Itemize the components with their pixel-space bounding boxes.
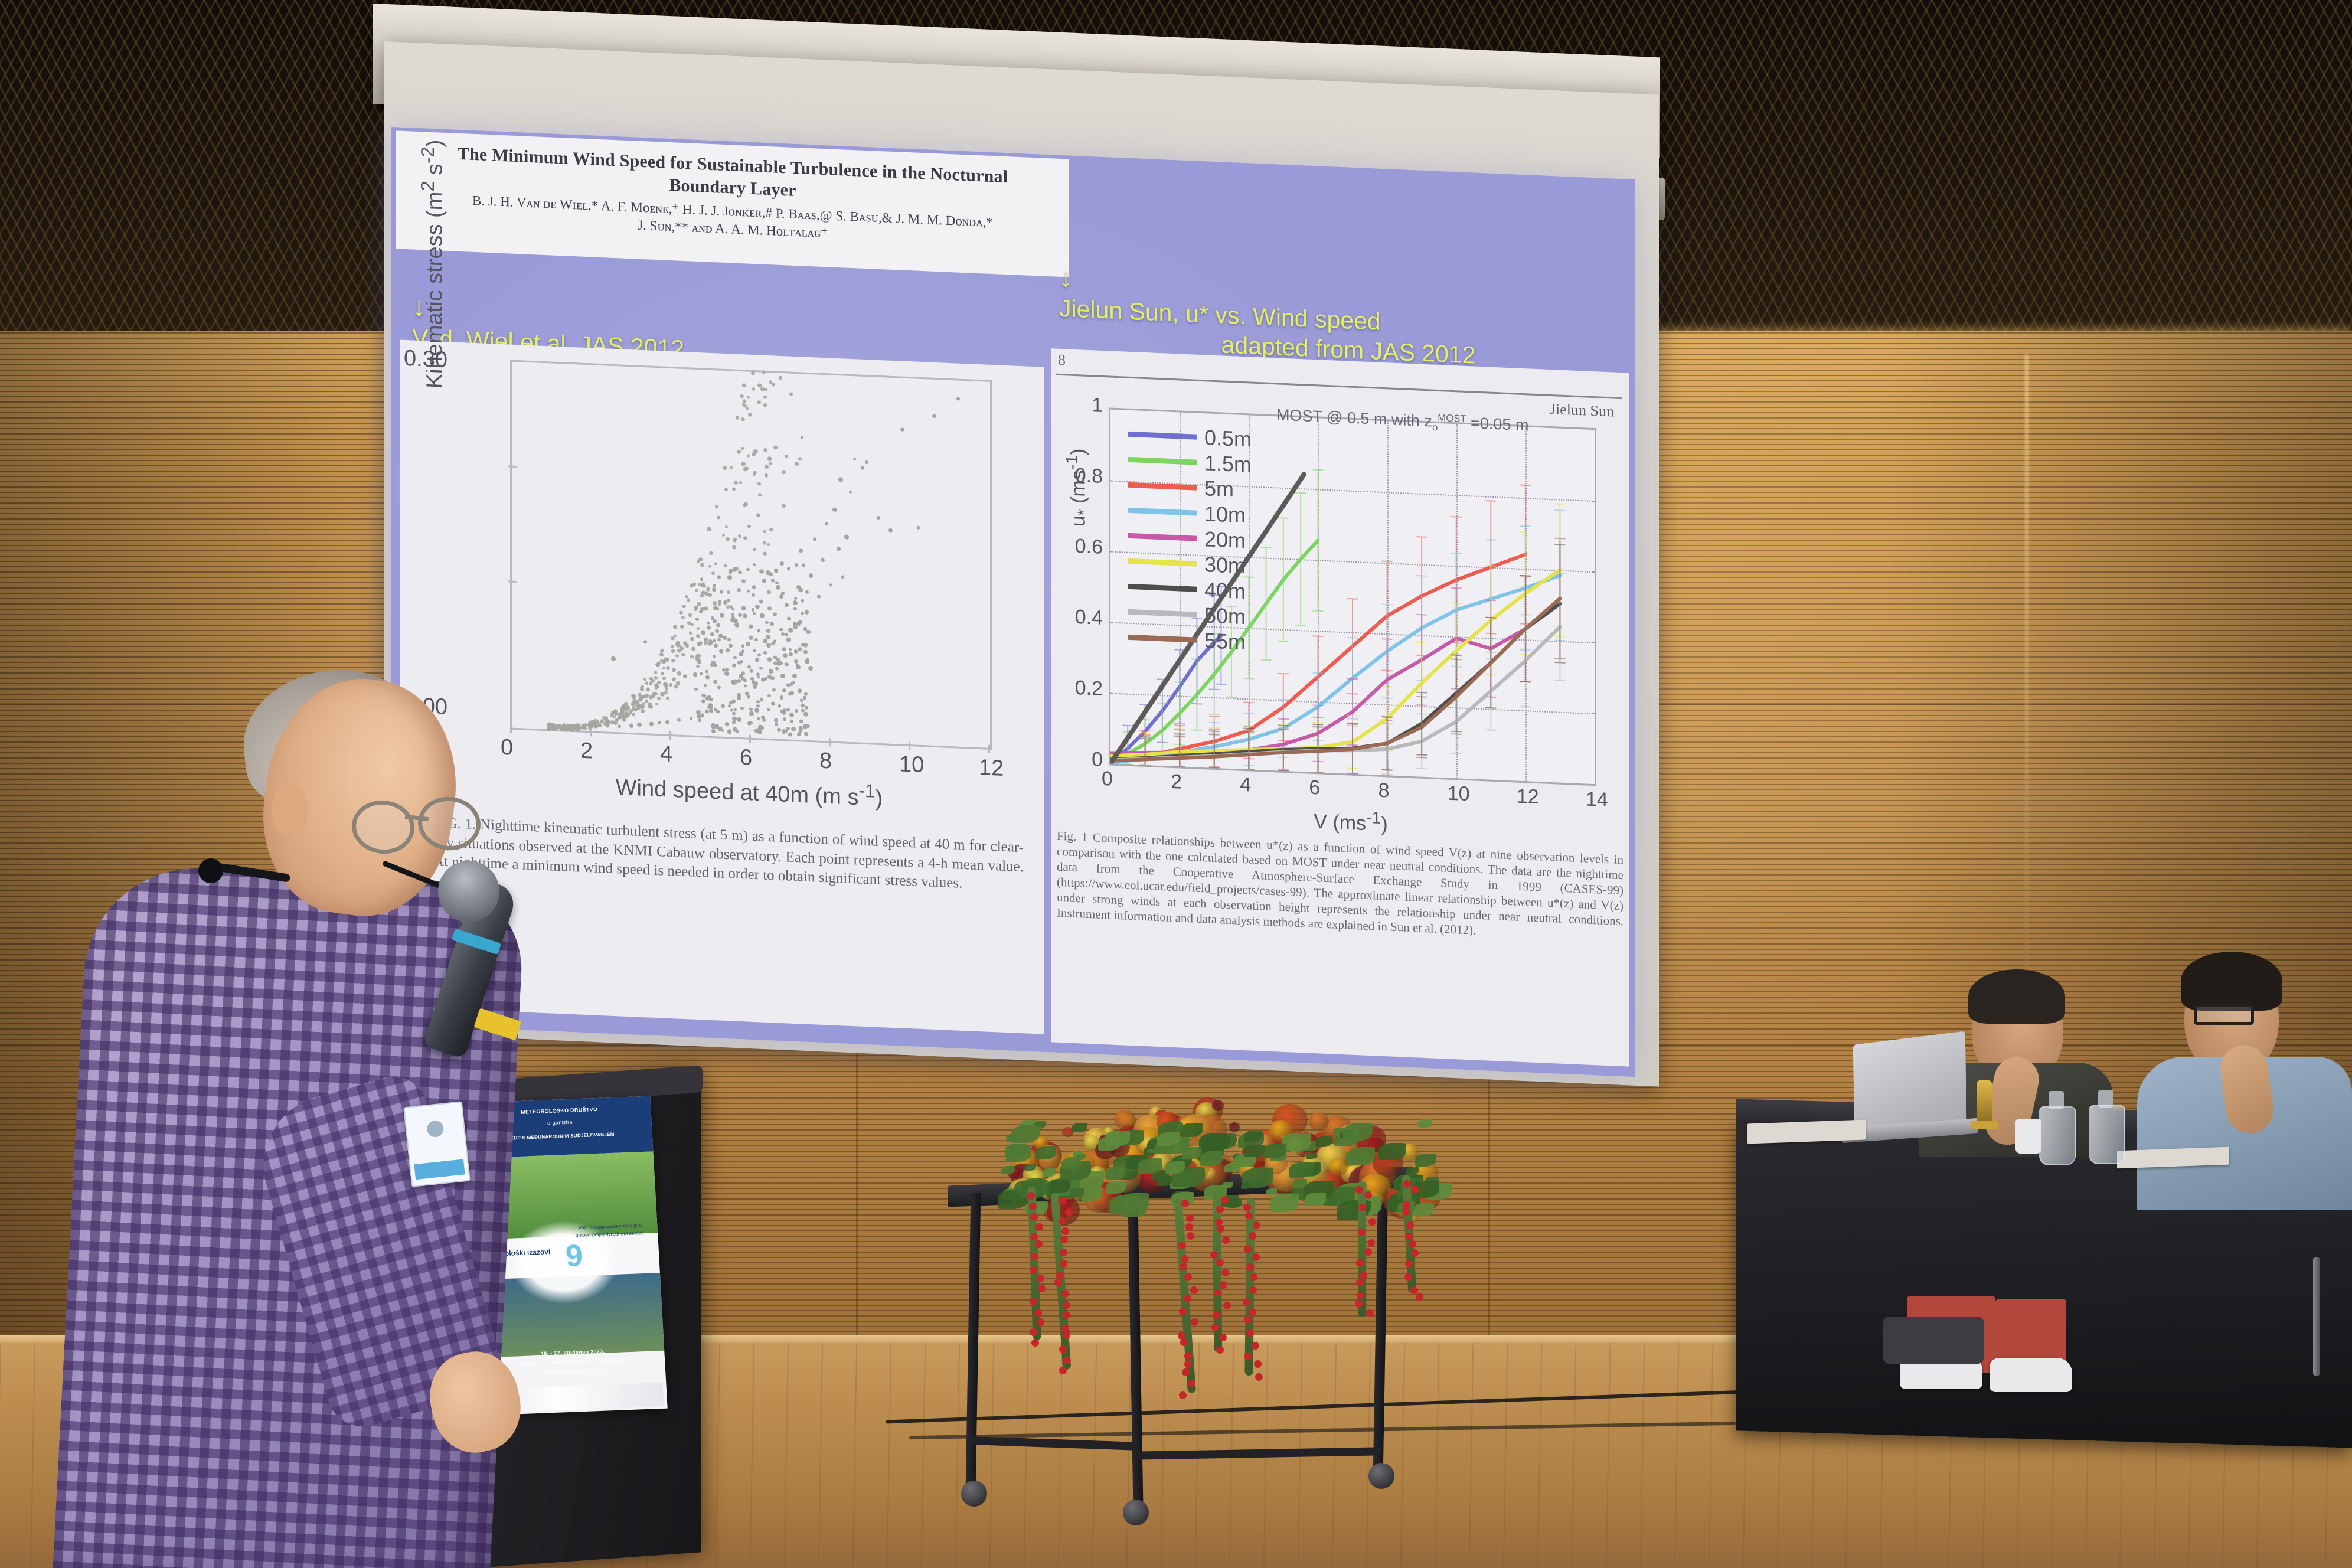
x-tick	[590, 728, 592, 736]
scatter-point	[780, 695, 784, 700]
foliage	[1005, 1144, 1026, 1157]
scatter-point	[759, 569, 763, 574]
scatter-point	[756, 700, 760, 704]
scatter-point	[697, 642, 701, 646]
scatter-point	[747, 454, 750, 458]
scatter-point	[752, 608, 754, 611]
foliage	[1061, 1157, 1080, 1169]
scatter-point	[645, 699, 649, 703]
scatter-point	[763, 403, 767, 407]
scatter-point	[801, 708, 805, 712]
scatter-point	[801, 599, 804, 603]
laptop-screen[interactable]	[1853, 1031, 1967, 1133]
scatter-point	[727, 575, 731, 580]
scatter-point	[700, 672, 703, 675]
scatter-point	[793, 625, 798, 629]
berry	[1059, 1217, 1066, 1225]
scatter-point	[649, 682, 652, 685]
scatter-point	[723, 636, 727, 640]
scatter-point	[724, 487, 728, 491]
scatter-point	[759, 600, 763, 604]
scatter-point	[682, 605, 686, 609]
foliage	[1244, 1145, 1264, 1157]
scatter-point	[802, 564, 805, 567]
scatter-point	[740, 394, 744, 398]
scatter-point	[798, 648, 802, 652]
scatter-point	[746, 407, 749, 410]
scatter-point	[780, 674, 785, 678]
scatter-point	[690, 655, 694, 658]
scatter-point	[746, 642, 750, 646]
scatter-point	[674, 634, 677, 637]
scatter-point	[719, 649, 723, 654]
foliage	[1006, 1134, 1019, 1142]
scatter-point	[844, 535, 849, 540]
foliage	[1266, 1188, 1277, 1195]
berry	[1216, 1206, 1224, 1213]
scatter-point	[749, 624, 753, 629]
scatter-point	[733, 567, 737, 572]
scatter-point	[801, 612, 804, 615]
legend-swatch	[1128, 432, 1197, 440]
scatter-point	[741, 579, 746, 583]
scatter-point	[832, 507, 837, 512]
berry	[1368, 1218, 1376, 1226]
scatter-point	[753, 548, 756, 551]
scatter-point	[618, 716, 621, 720]
scatter-point	[547, 723, 551, 727]
trophy-base	[1971, 1121, 1998, 1129]
berry	[1250, 1273, 1257, 1281]
scatter-point	[732, 682, 736, 685]
figure-watermark: Jielun Sun	[1550, 400, 1614, 421]
y-tick-label: 0.8	[1061, 463, 1103, 488]
scatter-point	[692, 583, 696, 586]
scatter-point	[805, 659, 809, 664]
scatter-point	[645, 694, 649, 697]
scatter-point	[787, 616, 791, 620]
flower-bloom	[1229, 1122, 1240, 1132]
scatter-point	[705, 697, 709, 701]
legend-swatch	[1128, 508, 1197, 516]
scatter-point	[805, 610, 809, 615]
berry	[1030, 1298, 1037, 1305]
legend-label: 40m	[1204, 577, 1246, 604]
scatter-point	[757, 675, 760, 679]
foliage	[1244, 1131, 1262, 1142]
x-tick	[988, 745, 990, 753]
foliage	[1200, 1151, 1224, 1166]
berry	[1063, 1357, 1071, 1364]
flower-bloom	[1328, 1158, 1348, 1176]
scatter-point	[757, 400, 760, 404]
trophy-statuette	[1977, 1080, 1992, 1124]
mic-capsule-icon	[198, 858, 223, 883]
poster-theme: Važnost agrometeorologije u potpori polj…	[574, 1221, 646, 1239]
scatter-point	[793, 600, 798, 605]
scatter-point	[728, 704, 731, 707]
scatter-point	[771, 579, 775, 583]
scatter-point	[573, 725, 576, 729]
scatter-point	[789, 392, 793, 396]
legend-label: 10m	[1204, 501, 1246, 528]
scatter-point	[805, 706, 808, 710]
scatter-point	[732, 488, 736, 491]
scatter-point	[767, 590, 771, 594]
berry	[1358, 1204, 1366, 1211]
scatter-point	[786, 708, 790, 711]
scatter-point	[798, 587, 803, 592]
scatter-point	[838, 477, 843, 482]
scatter-point	[751, 371, 755, 375]
scatter-point	[793, 607, 797, 611]
scatter-point	[654, 671, 658, 674]
scatter-point	[705, 670, 708, 674]
berry	[1187, 1232, 1194, 1240]
scatter-point	[785, 729, 788, 733]
scatter-point	[618, 724, 621, 728]
scatter-point	[737, 450, 741, 454]
scatter-point	[932, 414, 936, 418]
berry	[1179, 1391, 1187, 1399]
scatter-point	[783, 653, 788, 658]
scatter-point	[657, 697, 661, 700]
scatter-point	[672, 677, 676, 681]
scatter-point	[773, 640, 777, 643]
scatter-point	[773, 612, 776, 616]
berry	[1210, 1251, 1218, 1259]
scatter-point	[733, 539, 736, 543]
scatter-point	[566, 724, 570, 729]
foliage	[1333, 1128, 1344, 1135]
scatter-point	[625, 714, 629, 718]
berry	[1030, 1266, 1037, 1274]
legend-item-55m: 55m	[1128, 625, 1252, 655]
scatter-point	[796, 665, 801, 669]
scatter-point	[654, 676, 658, 680]
foliage	[1182, 1147, 1201, 1159]
scatter-point	[651, 694, 655, 698]
berry	[1179, 1308, 1187, 1315]
x-tick	[909, 741, 910, 750]
berry	[1211, 1324, 1219, 1331]
scatter-point	[747, 396, 750, 398]
scatter-point	[800, 699, 803, 703]
legend-swatch	[1128, 558, 1197, 567]
eyeglasses-icon	[2194, 1004, 2254, 1025]
scatter-point	[801, 436, 804, 439]
scatter-point	[758, 494, 762, 497]
scatter-point	[789, 713, 794, 717]
scatter-point	[750, 721, 753, 724]
x-tick	[749, 735, 751, 743]
foliage	[1199, 1133, 1227, 1150]
foliage	[1241, 1183, 1250, 1189]
x-tick-label: 2	[580, 739, 593, 765]
scatter-point	[690, 717, 692, 720]
scatter-point	[687, 598, 690, 602]
badge-photo	[426, 1120, 445, 1138]
scatter-point	[753, 563, 756, 566]
scatter-point	[789, 652, 793, 656]
scatter-point	[687, 621, 691, 625]
berry	[1054, 1279, 1062, 1286]
scatter-point	[749, 708, 752, 711]
scatter-point	[781, 592, 784, 594]
flower-bloom	[1114, 1110, 1136, 1130]
scatter-point	[780, 561, 783, 566]
scatter-point	[801, 703, 805, 707]
scatter-point	[767, 694, 770, 697]
scatter-point	[714, 643, 718, 648]
scatter-point	[554, 726, 558, 730]
scatter-point	[741, 447, 744, 450]
scatter-point	[725, 525, 728, 528]
scatter-point	[726, 537, 729, 541]
scatter-point	[722, 533, 726, 537]
scatter-point	[717, 575, 721, 579]
scatter-point	[765, 473, 769, 478]
scatter-point	[662, 676, 666, 680]
scatter-point	[683, 674, 687, 678]
scatter-point	[690, 636, 694, 641]
scatter-point	[738, 570, 742, 574]
berry	[1249, 1308, 1256, 1316]
scatter-point	[671, 645, 674, 648]
scatter-point	[829, 583, 832, 586]
y-tick-label: 0.6	[1061, 534, 1103, 559]
left-y-axis-label: Kinematic stress (m2 s-2)	[417, 127, 448, 389]
scatter-point	[821, 558, 825, 563]
shoe	[1990, 1358, 2072, 1392]
legend-label: 50m	[1204, 603, 1246, 629]
scatter-point	[785, 603, 789, 607]
scatter-point	[671, 659, 675, 663]
scatter-point	[747, 665, 751, 669]
scatter-point	[741, 462, 745, 466]
legend-label: 30m	[1204, 552, 1246, 579]
scatter-point	[696, 665, 699, 668]
scatter-point	[763, 396, 767, 399]
badge-color-strip	[414, 1159, 465, 1180]
scatter-point	[696, 634, 700, 639]
berry	[1252, 1253, 1260, 1261]
scatter-point	[783, 717, 786, 721]
scatter-point	[747, 524, 751, 528]
scatter-point	[837, 547, 841, 551]
scatter-point	[789, 648, 792, 651]
scatter-point	[700, 578, 704, 582]
scatter-point	[738, 534, 741, 537]
foliage	[1050, 1180, 1070, 1193]
scatter-point	[763, 541, 766, 545]
scatter-point	[605, 716, 608, 719]
scatter-point	[649, 722, 654, 726]
paper-cup	[2015, 1119, 2041, 1154]
scatter-point	[767, 657, 772, 662]
scatter-point	[772, 688, 776, 691]
scatter-point	[771, 701, 775, 706]
berry	[1356, 1259, 1364, 1267]
scatter-point	[672, 668, 676, 672]
foliage	[1289, 1162, 1314, 1178]
scatter-point	[741, 417, 745, 422]
x-tick-label: 10	[1448, 782, 1470, 806]
scatter-point	[738, 612, 743, 617]
scatter-point	[645, 681, 649, 685]
scatter-point	[763, 651, 767, 655]
scatter-point	[695, 589, 698, 592]
scatter-point	[744, 615, 747, 618]
scatter-point	[737, 588, 741, 592]
scatter-point	[785, 633, 788, 636]
scatter-point	[900, 427, 904, 431]
x-tick	[669, 731, 671, 740]
scatter-point	[677, 718, 681, 722]
foliage	[1305, 1193, 1327, 1206]
chair-leg	[2313, 1257, 2320, 1376]
foliage	[1109, 1195, 1139, 1214]
scatter-point	[655, 692, 658, 695]
y-tick-label: 0	[1061, 747, 1103, 772]
scatter-point	[779, 661, 783, 666]
scatter-point	[794, 659, 798, 664]
foliage	[1035, 1146, 1056, 1159]
scatter-point	[756, 513, 760, 518]
poster-event-number: 9	[564, 1238, 583, 1274]
scatter-point	[665, 720, 669, 724]
scatter-point	[782, 470, 786, 475]
scatter-point	[788, 628, 793, 633]
bag-under-table	[1883, 1317, 1984, 1364]
scatter-point	[778, 704, 782, 708]
scatter-point	[713, 655, 716, 658]
scatter-point	[712, 587, 716, 592]
berry	[1214, 1289, 1222, 1296]
scatter-point	[754, 708, 759, 713]
scatter-point	[782, 647, 786, 651]
scatter-point	[697, 660, 701, 664]
berry	[1358, 1229, 1366, 1236]
scatter-point	[691, 646, 695, 651]
scatter-point	[658, 721, 661, 725]
paper-title-block: The Minimum Wind Speed for Sustainable T…	[396, 130, 1069, 277]
foliage	[1270, 1194, 1299, 1212]
scatter-point	[795, 462, 799, 466]
scatter-point	[697, 626, 700, 630]
scatter-point	[697, 602, 701, 606]
scatter-point	[765, 465, 769, 469]
scatter-point	[742, 383, 746, 388]
x-tick-label: 0	[1102, 767, 1113, 791]
scatter-point	[643, 640, 647, 643]
berry	[1056, 1272, 1064, 1279]
scatter-point	[782, 688, 786, 693]
scatter-point	[693, 672, 698, 677]
berry	[1030, 1328, 1037, 1336]
scatter-point	[707, 621, 710, 624]
scatter-point	[853, 458, 856, 460]
x-tick-label: 4	[1240, 773, 1251, 797]
scatter-point	[746, 567, 750, 571]
scatter-point	[773, 445, 778, 449]
carafe-neck	[2098, 1090, 2113, 1108]
scatter-point	[769, 462, 773, 465]
berry	[1244, 1353, 1252, 1360]
scatter-point	[749, 711, 753, 716]
scatter-point	[729, 643, 733, 648]
scatter-point	[763, 530, 766, 533]
scatter-point	[662, 667, 665, 669]
scatter-point	[696, 710, 701, 714]
scatter-point	[727, 638, 731, 641]
berry	[1221, 1269, 1229, 1276]
scatter-point	[803, 696, 806, 700]
berry	[1060, 1249, 1067, 1256]
scatter-point	[681, 653, 685, 657]
scatter-point	[769, 528, 773, 531]
berry	[1037, 1275, 1044, 1282]
scatter-point	[766, 643, 771, 648]
scatter-point	[701, 699, 705, 703]
scatter-point	[715, 505, 718, 508]
scatter-point	[716, 710, 719, 714]
scatter-point	[861, 466, 864, 470]
scatter-point	[888, 528, 893, 532]
scatter-point	[723, 466, 727, 470]
scatter-point	[704, 637, 708, 641]
scatter-point	[696, 654, 700, 658]
scatter-point	[782, 711, 786, 715]
scatter-point	[655, 703, 658, 705]
scatter-point	[750, 677, 754, 681]
projected-slide: The Minimum Wind Speed for Sustainable T…	[391, 127, 1635, 1077]
scatter-point	[717, 686, 721, 690]
scatter-point	[707, 527, 711, 531]
scatter-point	[688, 613, 692, 618]
scatter-point	[791, 726, 796, 731]
scatter-point	[752, 585, 756, 589]
x-tick-label: 14	[1586, 788, 1608, 812]
scatter-point	[755, 658, 759, 662]
berry	[1403, 1180, 1411, 1188]
scatter-point	[769, 572, 773, 576]
scatter-point	[813, 538, 816, 541]
scatter-point	[759, 667, 762, 670]
scatter-point	[583, 726, 587, 730]
scatter-point	[737, 717, 741, 722]
scatter-point	[769, 669, 773, 674]
scatter-point	[710, 632, 714, 636]
foliage	[1106, 1181, 1126, 1193]
scatter-point	[675, 654, 679, 658]
scatter-point	[754, 638, 758, 642]
berry	[1063, 1301, 1070, 1309]
scatter-point	[794, 649, 798, 654]
scatter-point	[727, 590, 730, 594]
scatter-point	[689, 632, 692, 635]
berry	[1416, 1293, 1423, 1301]
scatter-point	[664, 657, 668, 662]
scatter-point	[767, 606, 772, 610]
foliage	[1025, 1164, 1036, 1171]
scatter-point	[803, 712, 808, 717]
scatter-point	[799, 726, 803, 730]
scatter-point	[656, 685, 659, 689]
scatter-point	[701, 714, 705, 718]
berry	[1244, 1245, 1252, 1253]
scatter-point	[734, 481, 738, 485]
